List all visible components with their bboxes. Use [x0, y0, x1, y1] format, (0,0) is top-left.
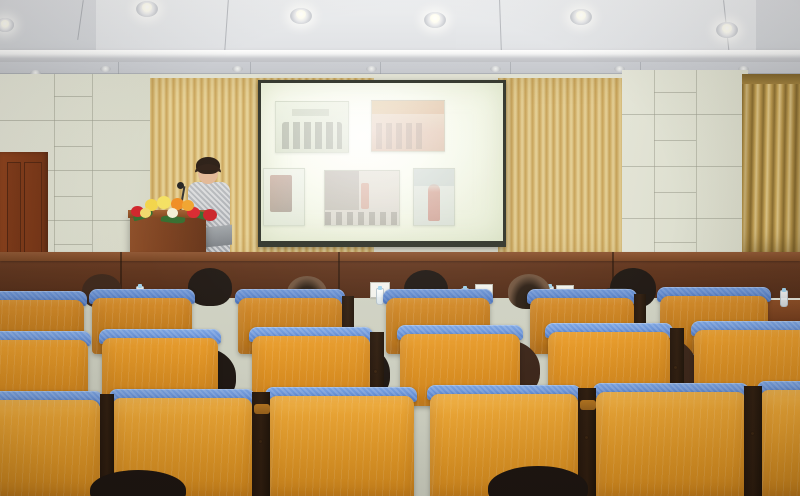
slide-photo-group-photo-winter: [275, 101, 349, 153]
flower-yellow: [140, 208, 151, 218]
panel-groove: [654, 192, 696, 193]
seat-back: [0, 400, 100, 496]
panel-groove: [622, 166, 748, 167]
panel-groove: [54, 74, 55, 270]
microphone-head: [177, 182, 184, 189]
panel-groove: [654, 140, 696, 141]
seat-fixing-screw: [259, 440, 262, 443]
seat-armrest: [580, 400, 596, 410]
auditorium-seat[interactable]: [268, 396, 414, 496]
gold-window-curtain: [742, 74, 800, 262]
panel-groove: [622, 218, 748, 219]
recessed-downlight-far: [232, 66, 243, 72]
flower-yellow: [157, 196, 171, 209]
ceiling: [0, 0, 800, 78]
seat-back: [268, 396, 414, 496]
panel-groove: [92, 74, 93, 270]
panel-groove: [654, 242, 696, 243]
panel-groove: [54, 196, 92, 197]
slide-photo-red-coat-portrait: [413, 168, 455, 226]
water-bottle: [780, 290, 788, 307]
slide-photo-snow-machine: [263, 168, 305, 226]
auditorium-seat[interactable]: [0, 400, 100, 496]
recessed-downlight: [424, 12, 446, 28]
curtain-valance: [742, 74, 800, 84]
panel-groove: [0, 120, 150, 121]
slide-photo-stage-lecture: [324, 170, 400, 226]
recessed-downlight: [570, 9, 592, 25]
recessed-downlight-far: [490, 66, 501, 72]
floral-arrangement: [131, 196, 221, 226]
recessed-downlight: [136, 1, 158, 17]
seat-armrest: [254, 404, 270, 414]
recessed-downlight: [290, 8, 312, 24]
panel-groove: [54, 146, 92, 147]
recessed-downlight: [716, 22, 738, 38]
seat-fixing-screw: [374, 370, 377, 373]
recessed-downlight-far: [366, 66, 377, 72]
auditorium-seat[interactable]: [760, 390, 800, 496]
recessed-downlight-far: [100, 66, 111, 72]
presenter-laptop: [206, 225, 232, 248]
flower-white: [167, 208, 178, 218]
panel-groove: [54, 96, 92, 97]
seat-fixing-screw: [751, 432, 754, 435]
auditorium-seat[interactable]: [596, 392, 746, 496]
flower-orange: [182, 200, 194, 211]
panel-groove: [654, 92, 696, 93]
projection-screen: [261, 83, 503, 241]
conference-hall-photo: [0, 0, 800, 496]
slat-wall-panel-right: [498, 78, 630, 260]
slide-photo-red-banner-ceremony: [371, 100, 445, 152]
seat-back: [596, 392, 746, 496]
seat-back: [760, 390, 800, 496]
seat-fixing-screw: [585, 436, 588, 439]
flower-red-anthurium: [203, 209, 217, 221]
aisle-gap: [744, 386, 762, 496]
seat-fixing-screw: [674, 366, 677, 369]
panel-groove: [54, 244, 92, 245]
panel-groove: [622, 114, 748, 115]
